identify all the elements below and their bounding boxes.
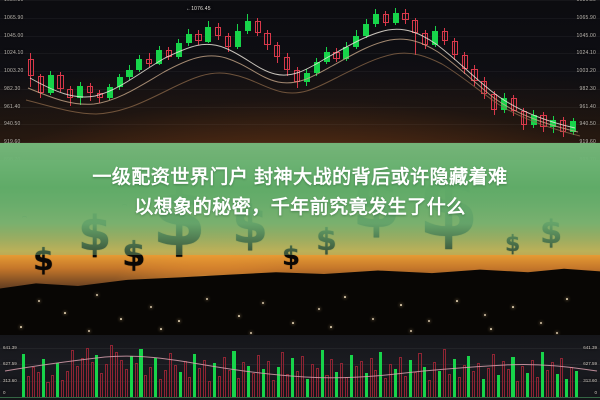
price-axis-label-left: 1045.00 <box>4 33 23 39</box>
sparkle-dot <box>400 304 402 306</box>
volume-axis-label-right: 627.59 <box>583 361 597 366</box>
sparkle-dot <box>96 294 98 296</box>
sparkle-dot <box>456 300 458 302</box>
volume-baseline <box>0 397 600 398</box>
sparkle-dot <box>250 332 252 334</box>
sparkle-dot <box>88 330 90 332</box>
ma-slow-brown-line <box>26 53 580 136</box>
price-axis-label-right: 961.40 <box>580 104 597 110</box>
price-axis-label-left: 940.50 <box>4 121 21 127</box>
price-axis-label-right: 1024.10 <box>577 50 596 56</box>
headline-line-2: 以想象的秘密，千年前究竟发生了什么 <box>134 193 466 223</box>
sparkle-dot <box>372 318 374 320</box>
price-axis-label-right: 1045.00 <box>577 33 596 39</box>
price-axis-label-right: 982.30 <box>580 86 597 92</box>
sparkle-dot <box>38 300 40 302</box>
volume-axis-label-right: 313.60 <box>583 378 597 383</box>
sparkle-dot <box>120 318 122 320</box>
price-axis-label-left: 961.40 <box>4 104 21 110</box>
price-axis-label-left: 1003.20 <box>4 68 23 74</box>
sparkle-dot <box>410 330 412 332</box>
volume-axis-label-left: 627.59 <box>3 361 17 366</box>
volume-axis-label-right: 641.39 <box>583 345 597 350</box>
price-axis-label-left: 1065.90 <box>4 15 23 21</box>
ma-fast-white-line <box>30 29 575 128</box>
sparkle-dot <box>428 320 430 322</box>
sparkle-dot <box>540 322 542 324</box>
sparkle-dot <box>490 328 492 330</box>
sparkle-dot <box>238 315 240 317</box>
sparkle-dot <box>292 322 294 324</box>
volume-axis-label-left: 641.39 <box>3 345 17 350</box>
sparkle-dot <box>150 306 152 308</box>
sparkle-dot <box>330 326 332 328</box>
price-axis-label-right: 1086.80 <box>577 0 596 3</box>
image-canvas: ←1076.45 1086.801065.901045.001024.10100… <box>0 0 600 400</box>
price-annotation: ←1076.45 <box>186 6 211 12</box>
volume-ma-line <box>0 335 600 400</box>
price-axis-label-right: 940.50 <box>580 121 597 127</box>
price-chart-panel: ←1076.45 1086.801065.901045.001024.10100… <box>0 0 600 160</box>
headline-banner: 一级配资世界门户 封神大战的背后或许隐藏着难 以想象的秘密，千年前究竟发生了什么 <box>0 143 600 255</box>
sparkle-dot <box>178 320 180 322</box>
price-axis-label-left: 982.30 <box>4 86 21 92</box>
price-axis-label-left: 1086.80 <box>4 0 23 3</box>
price-axis-label-right: 1065.90 <box>577 15 596 21</box>
sparkle-dot <box>344 296 346 298</box>
volume-axis-label-left: 0 <box>3 390 6 395</box>
moving-average-lines <box>0 0 600 160</box>
sparkle-dot <box>206 298 208 300</box>
volume-axis-label-right: 0 <box>594 390 597 395</box>
sparkle-dot <box>20 326 22 328</box>
ma-mid-tan-line <box>28 39 578 132</box>
volume-chart-panel: 641.39627.59313.600 641.39627.59313.600 <box>0 335 600 400</box>
volume-axis-label-left: 313.60 <box>3 378 17 383</box>
sparkle-dot <box>64 312 66 314</box>
sparkle-dot <box>512 306 514 308</box>
sparkle-dot <box>318 308 320 310</box>
price-axis-label-left: 1024.10 <box>4 50 23 56</box>
sparkle-dot <box>556 332 558 334</box>
sparkle-dot <box>262 302 264 304</box>
sparkle-dot <box>566 298 568 300</box>
sparkle-dot <box>160 328 162 330</box>
price-axis-label-right: 1003.20 <box>577 68 596 74</box>
headline-line-1: 一级配资世界门户 封神大战的背后或许隐藏着难 <box>92 163 507 193</box>
sparkle-dot <box>484 314 486 316</box>
